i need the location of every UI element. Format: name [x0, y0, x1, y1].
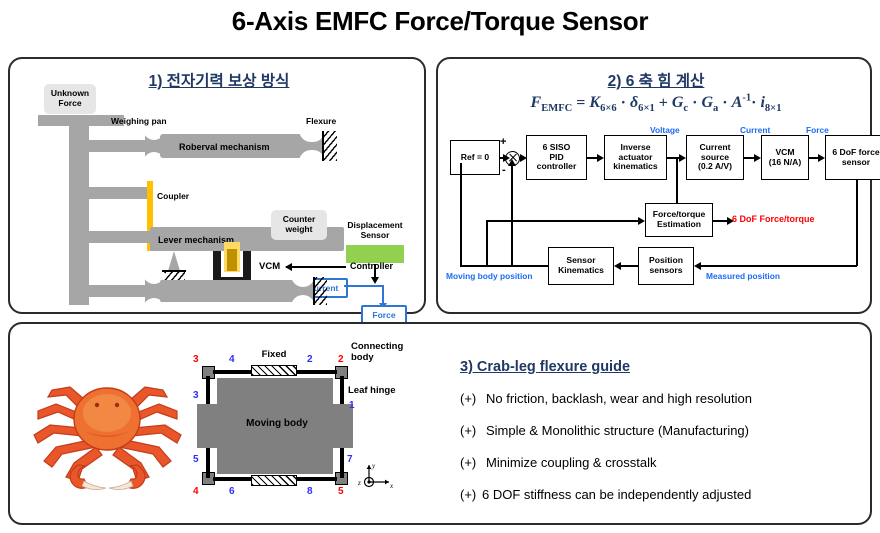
bullet-text-1: No friction, backlash, wear and high res… — [486, 391, 752, 406]
line-sum-to-pid — [519, 157, 520, 159]
fixed-pad-top — [251, 365, 297, 376]
ground-hatch-top — [323, 131, 337, 161]
page-title: 6-Axis EMFC Force/Torque Sensor — [0, 6, 880, 37]
block-position-sensors: Positionsensors — [638, 247, 694, 285]
current-line-v — [382, 285, 384, 303]
benefit-item-3: (+)Minimize coupling & crosstalk — [460, 455, 657, 470]
line-position-to-kinematics — [621, 265, 638, 267]
corner-number-3: 3 — [193, 354, 199, 365]
line-pid-to-inverse — [587, 157, 597, 159]
flexure-neck-bottom — [292, 280, 314, 302]
block-ref: Ref = 0 — [450, 140, 500, 175]
sum-minus-sign: - — [502, 164, 506, 176]
signal-label-measured-position: Measured position — [706, 271, 780, 281]
line-current-to-vcm — [744, 157, 754, 159]
ground-hatch-bottom — [314, 277, 327, 305]
emfc-formula: FEMFC = K6×6 · δ6×1 + Gc · Ga · A-1· i8×… — [438, 93, 874, 115]
panel-6axis-force-calc: 2) 6 축 힘 계산 FEMFC = K6×6 · δ6×1 + Gc · G… — [436, 57, 872, 314]
line-kinematics-feedback-v — [460, 163, 462, 266]
current-line-h — [344, 285, 384, 287]
block-pid-controller: 6 SISOPIDcontroller — [526, 135, 587, 180]
line-sensor-to-position — [701, 265, 857, 267]
panel-emfc-principle: 1) 전자기력 보상 방식 UnknownForce Weighing pan … — [8, 57, 426, 314]
connecting-body-label: Connectingbody — [351, 342, 403, 364]
bullet-text-4: 6 DOF stiffness can be independently adj… — [482, 487, 751, 502]
slide-root: 6-Axis EMFC Force/Torque Sensor 1) 전자기력 … — [0, 0, 880, 533]
bullet-marker-3: (+) — [460, 455, 486, 470]
vcm-label: VCM — [259, 262, 280, 273]
hinge-number-2: 2 — [307, 354, 313, 365]
hinge-number-5: 5 — [193, 454, 199, 465]
crab-photo — [22, 359, 187, 494]
lever-fulcrum — [160, 251, 188, 271]
displacement-sensor-label: DisplacementSensor — [337, 221, 413, 241]
bullet-text-3: Minimize coupling & crosstalk — [486, 455, 657, 470]
block-current-source: Currentsource(0.2 A/V) — [686, 135, 744, 180]
line-estimation-to-output — [713, 220, 727, 222]
leaf-hinge-label: Leaf hinge — [348, 386, 396, 397]
sum-plus-sign: + — [500, 136, 506, 148]
block-inverse-actuator-kinematics: Inverseactuatorkinematics — [604, 135, 667, 180]
benefit-item-2: (+)Simple & Monolithic structure (Manufa… — [460, 423, 749, 438]
block-6dof-force-sensor: 6 DoF forcesensor — [825, 135, 880, 180]
signal-label-moving-body-position: Moving body position — [446, 271, 533, 281]
panel2-title: 2) 6 축 힘 계산 — [438, 69, 874, 91]
block-sensor-kinematics: SensorKinematics — [548, 247, 614, 285]
bullet-text-2: Simple & Monolithic structure (Manufactu… — [486, 423, 749, 438]
benefit-item-4: (+)6 DOF stiffness can be independently … — [460, 487, 751, 502]
corner-number-4: 4 — [193, 486, 199, 497]
hinge-number-1: 1 — [349, 400, 355, 411]
bottom-beam — [160, 280, 296, 302]
output-6dof-force-torque: 6 DoF Force/torque — [732, 214, 815, 224]
bullet-marker-4: (+) — [460, 487, 482, 502]
ground-wall-top — [322, 131, 324, 161]
flexure-label: Flexure — [306, 117, 336, 127]
hinge-number-7: 7 — [347, 454, 353, 465]
block-vcm: VCM(16 N/A) — [761, 135, 809, 180]
coupler-connector-arm — [85, 187, 150, 199]
corner-number-5: 5 — [338, 486, 344, 497]
panel-crab-leg-flexure: Moving body Fixed Connectingbody Leaf hi… — [8, 322, 872, 525]
counter-weight-label: Counterweight — [271, 210, 327, 240]
roberval-arm-connector — [85, 140, 150, 152]
lever-connector-arm — [85, 231, 150, 243]
controller-to-vcm-arrow — [286, 266, 346, 268]
fixed-label: Fixed — [251, 350, 297, 361]
weighing-pan-label: Weighing pan — [111, 117, 167, 127]
hinge-number-8: 8 — [307, 486, 313, 497]
hinge-number-6: 6 — [229, 486, 235, 497]
flexure-neck-top — [300, 134, 324, 158]
crab-illustration — [22, 359, 187, 494]
line-tap-arrow — [676, 157, 678, 203]
signal-label-force: Force — [806, 125, 829, 135]
corner-number-2: 2 — [338, 354, 344, 365]
bullet-marker-1: (+) — [460, 391, 486, 406]
vertical-column — [69, 125, 89, 305]
hinge-number-4: 4 — [229, 354, 235, 365]
controller-label: Controller — [350, 261, 393, 271]
line-vcm-to-sensor — [809, 157, 818, 159]
lever-mechanism-label: Lever mechanism — [158, 235, 234, 245]
signal-label-current: Current — [740, 125, 770, 135]
hinge-number-3: 3 — [193, 390, 199, 401]
block-force-torque-estimation: Force/torqueEstimation — [645, 203, 713, 237]
line-sensor-down — [856, 180, 858, 266]
line-kinematics-to-estimation — [486, 220, 638, 222]
roberval-mechanism-label: Roberval mechanism — [179, 142, 270, 152]
panel3-title: 3) Crab-leg flexure guide — [460, 359, 630, 375]
benefit-item-1: (+)No friction, backlash, wear and high … — [460, 391, 752, 406]
unknown-force-label: UnknownForce — [44, 84, 96, 114]
signal-label-voltage: Voltage — [650, 125, 680, 135]
line-ref-to-sum — [500, 157, 503, 159]
flexure-schematic: Moving body Fixed Connectingbody Leaf hi… — [195, 342, 370, 514]
coordinate-axes: x y z — [355, 460, 397, 502]
moving-body-label: Moving body — [229, 418, 325, 430]
fixed-pad-bottom — [251, 475, 297, 486]
line-kinematics-up-v — [486, 220, 488, 266]
svg-text:y: y — [371, 462, 376, 470]
svg-text:x: x — [389, 482, 394, 490]
coupler-label: Coupler — [157, 192, 189, 202]
bottom-arm-connector — [85, 285, 150, 297]
svg-text:z: z — [357, 479, 361, 487]
line-feedback-to-sum-v — [511, 166, 513, 265]
bullet-marker-2: (+) — [460, 423, 486, 438]
